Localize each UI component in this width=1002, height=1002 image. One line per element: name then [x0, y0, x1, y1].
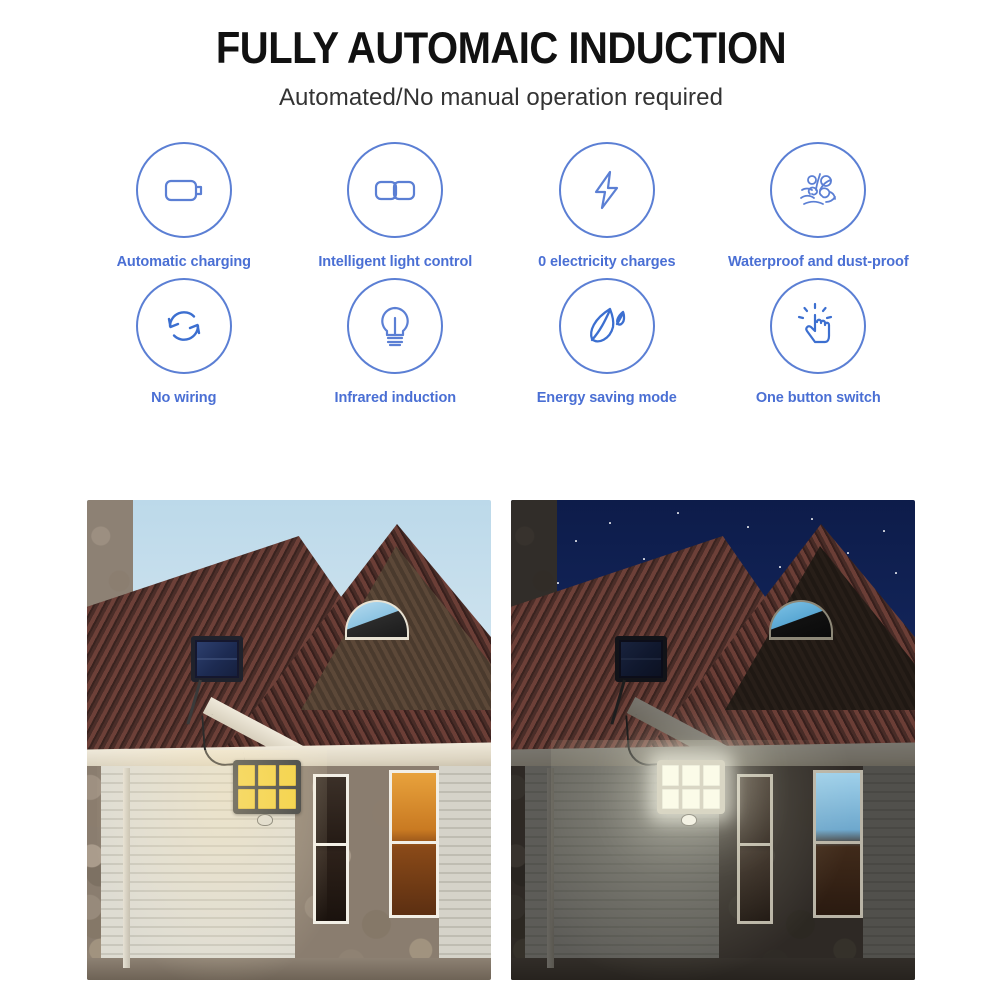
downspout [123, 768, 130, 968]
refresh-arrows-icon [136, 278, 232, 374]
vinyl-siding-right [439, 766, 491, 980]
led-cell [682, 789, 699, 810]
led-cell [703, 765, 720, 786]
led-cell [662, 789, 679, 810]
daytime-scene [87, 500, 491, 980]
led-flood-light [657, 760, 725, 814]
tap-hand-icon [770, 278, 866, 374]
feature-item-infrared-induction: Infrared induction [290, 278, 502, 406]
window-wide [389, 770, 439, 918]
nighttime-scene [511, 500, 915, 980]
led-cell [258, 789, 275, 810]
light-control-icon [347, 142, 443, 238]
vinyl-siding-right [863, 766, 915, 980]
downspout [547, 768, 554, 968]
solar-panel [191, 636, 243, 682]
feature-item-intelligent-light-control: Intelligent light control [290, 142, 502, 270]
led-cell [279, 789, 296, 810]
feature-label: Infrared induction [335, 390, 456, 406]
light-bulb-icon [347, 278, 443, 374]
ground-strip [87, 958, 491, 980]
led-cell [703, 789, 720, 810]
led-cell [662, 765, 679, 786]
feature-label: 0 electricity charges [538, 254, 675, 270]
battery-icon [136, 142, 232, 238]
page-title: FULLY AUTOMAIC INDUCTION [0, 24, 1002, 73]
feature-label: Automatic charging [117, 254, 251, 270]
feature-item-zero-electricity-charges: 0 electricity charges [501, 142, 713, 270]
window-tall [313, 774, 349, 924]
leaf-icon [559, 278, 655, 374]
window-wide [813, 770, 863, 918]
header: FULLY AUTOMAIC INDUCTION Automated/No ma… [0, 0, 1002, 112]
photo-comparison [87, 500, 915, 980]
led-cell [682, 765, 699, 786]
led-panel-grid [238, 765, 296, 809]
solar-cells [621, 642, 661, 676]
led-cell [258, 765, 275, 786]
lightning-bolt-icon [559, 142, 655, 238]
led-flood-light [233, 760, 301, 814]
ground-strip [511, 958, 915, 980]
page-subtitle: Automated/No manual operation required [0, 84, 1002, 112]
infographic-page: FULLY AUTOMAIC INDUCTION Automated/No ma… [0, 0, 1002, 1002]
feature-label: No wiring [151, 390, 216, 406]
led-cell [238, 789, 255, 810]
water-splash-icon [770, 142, 866, 238]
feature-label: Energy saving mode [537, 390, 677, 406]
feature-item-automatic-charging: Automatic charging [78, 142, 290, 270]
solar-cells [197, 642, 237, 676]
led-cell [238, 765, 255, 786]
feature-label: Waterproof and dust-proof [728, 254, 909, 270]
feature-label: Intelligent light control [318, 254, 472, 270]
feature-grid: Automatic charging Intelligent light con… [0, 142, 1002, 406]
led-panel-grid [662, 765, 720, 809]
motion-sensor [257, 814, 273, 826]
feature-item-no-wiring: No wiring [78, 278, 290, 406]
solar-panel [615, 636, 667, 682]
feature-item-energy-saving-mode: Energy saving mode [501, 278, 713, 406]
motion-sensor [681, 814, 697, 826]
window-tall [737, 774, 773, 924]
feature-item-one-button-switch: One button switch [713, 278, 925, 406]
led-cell [279, 765, 296, 786]
feature-item-waterproof-dustproof: Waterproof and dust-proof [713, 142, 925, 270]
feature-label: One button switch [756, 390, 881, 406]
